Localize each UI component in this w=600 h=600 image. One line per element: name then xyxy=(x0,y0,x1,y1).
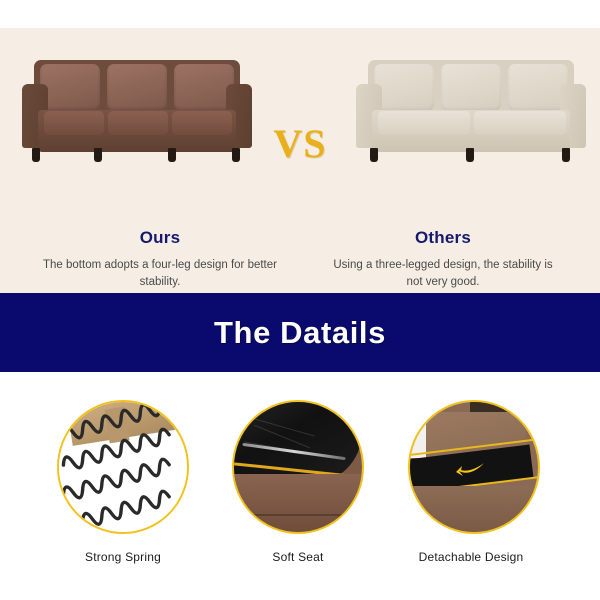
sofa-back-cushion xyxy=(174,64,234,111)
sofa-back-cushion xyxy=(40,64,100,111)
details-banner: The Datails xyxy=(0,293,600,372)
yellow-arrow-icon xyxy=(456,460,486,478)
cushion-seam xyxy=(234,514,364,516)
detail-item-soft-seat: Soft Seat xyxy=(232,400,364,564)
others-caption-block: Others Using a three-legged design, the … xyxy=(308,228,578,290)
detail-label: Soft Seat xyxy=(232,550,364,564)
sofa-seat-cushion xyxy=(108,111,168,135)
sofa-back-cushion xyxy=(107,64,167,111)
others-title: Others xyxy=(308,228,578,248)
infographic-page: VS Ou xyxy=(0,0,600,600)
details-banner-title: The Datails xyxy=(214,315,386,351)
serpentine-springs-icon xyxy=(59,402,187,532)
sofa-back-cushion xyxy=(508,64,568,111)
ours-sofa-image xyxy=(18,54,256,164)
sofa-back-cushion xyxy=(441,64,501,111)
detail-label: Strong Spring xyxy=(57,550,189,564)
detail-label: Detachable Design xyxy=(402,550,540,564)
sofa-leg xyxy=(94,148,102,162)
brown-cushion xyxy=(234,474,364,534)
ours-caption-block: Ours The bottom adopts a four-leg design… xyxy=(25,228,295,290)
soft-seat-photo xyxy=(232,400,364,534)
detachable-design-photo xyxy=(408,400,540,534)
lower-fabric xyxy=(410,486,540,534)
comparison-panel: VS Ou xyxy=(0,28,600,293)
sofa-leg xyxy=(232,148,240,162)
ours-description: The bottom adopts a four-leg design for … xyxy=(25,257,295,290)
ours-title: Ours xyxy=(25,228,295,248)
sofa-back-cushion xyxy=(374,64,434,111)
sofa-leg xyxy=(168,148,176,162)
sofa-leg xyxy=(466,148,474,162)
detail-item-detachable-design: Detachable Design xyxy=(408,400,540,564)
strong-spring-photo xyxy=(57,400,189,534)
sofa-seat-cushion xyxy=(44,111,104,135)
others-sofa-image xyxy=(352,54,590,164)
sofa-leg xyxy=(32,148,40,162)
others-description: Using a three-legged design, the stabili… xyxy=(308,257,578,290)
details-section: Strong Spring Soft Seat xyxy=(0,372,600,600)
sofa-leg xyxy=(370,148,378,162)
vs-divider-label: VS xyxy=(262,124,338,164)
detail-item-strong-spring: Strong Spring xyxy=(57,400,189,564)
sofa-comparison-row: VS xyxy=(0,28,600,163)
sofa-leg xyxy=(562,148,570,162)
sofa-seat-cushion xyxy=(474,111,566,135)
sofa-seat-cushion xyxy=(172,111,232,135)
sofa-seat-cushion xyxy=(378,111,470,135)
